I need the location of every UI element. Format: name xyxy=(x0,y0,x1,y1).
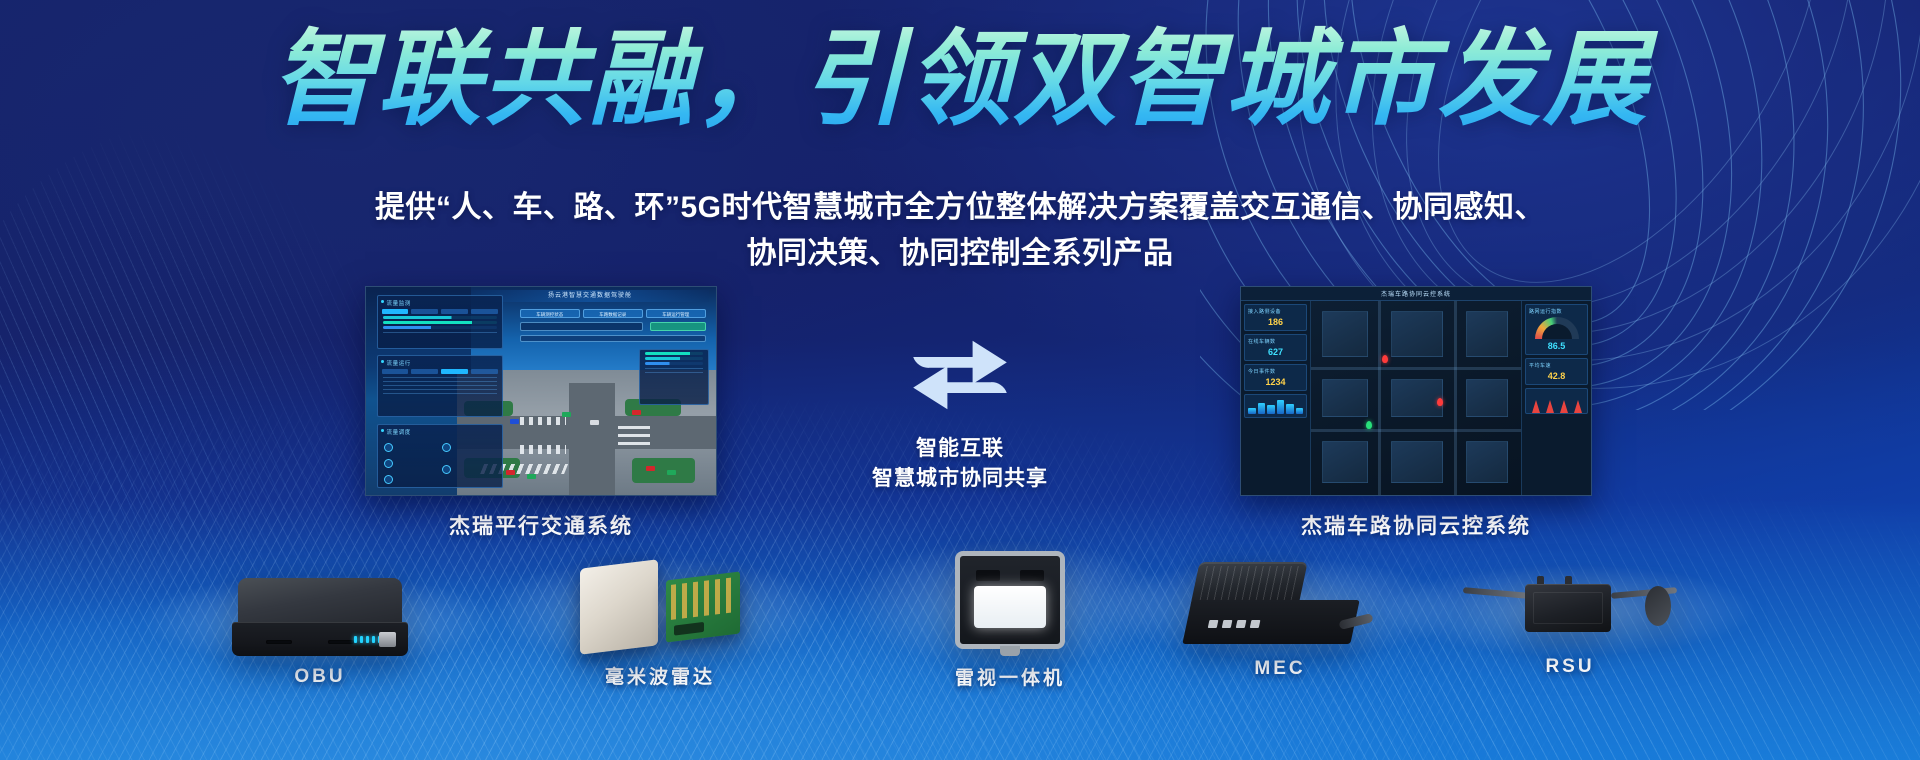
hud-bar xyxy=(383,326,497,329)
hud-status-icon xyxy=(384,475,393,484)
map-marker[interactable] xyxy=(1366,421,1372,429)
gauge-icon xyxy=(1535,317,1579,339)
rsu-device-icon xyxy=(1445,568,1695,646)
sim-vehicle xyxy=(510,419,519,424)
right-panel-caption: 杰瑞车路协同云控系统 xyxy=(1240,510,1592,540)
camera-light-panel xyxy=(974,586,1046,628)
hud-title: 流量监测 xyxy=(378,296,502,309)
map-block xyxy=(1391,441,1444,484)
right-screenshot-panel[interactable]: 杰瑞车路协同云控系统 接入路侧设备 186 在线车辆数 627 今日事件数 12… xyxy=(1240,286,1592,540)
sim-vehicle xyxy=(646,466,655,471)
map-title: 杰瑞车路协同云控系统 xyxy=(1381,289,1451,298)
hud-divider xyxy=(383,393,497,394)
hud-flow-monitor[interactable]: 流量监测 xyxy=(377,295,503,349)
mec-port xyxy=(1250,620,1261,628)
cloud-control-system-screenshot: 杰瑞车路协同云控系统 接入路侧设备 186 在线车辆数 627 今日事件数 12… xyxy=(1240,286,1592,496)
rsu-chassis xyxy=(1525,584,1611,632)
metric-title: 接入路侧设备 xyxy=(1248,308,1303,315)
hud-divider xyxy=(645,368,703,369)
exchange-arrows-icon xyxy=(905,330,1015,420)
metric-title: 今日事件数 xyxy=(1248,368,1303,375)
hud-flow-runtime[interactable]: 流量运行 xyxy=(377,355,503,417)
obu-ethernet-port xyxy=(379,632,396,647)
hud-bar xyxy=(645,357,703,360)
hud-title: 流量运行 xyxy=(378,356,502,369)
peak-bar xyxy=(1546,400,1554,413)
peaks-chart-card[interactable] xyxy=(1525,388,1588,414)
camera-lens-right xyxy=(1020,570,1044,581)
hud-bar xyxy=(645,362,703,365)
mec-port xyxy=(1236,620,1247,628)
peak-bar xyxy=(1532,400,1540,413)
obu-device-icon xyxy=(200,578,440,656)
hud-bar xyxy=(645,352,703,355)
metric-card[interactable]: 今日事件数 1234 xyxy=(1244,364,1307,391)
product-mec[interactable]: MEC xyxy=(1160,562,1400,680)
center-exchange-block: 智能互联 智慧城市协同共享 xyxy=(860,330,1060,495)
map-canvas[interactable] xyxy=(1311,301,1521,495)
map-block xyxy=(1466,379,1508,418)
hud-divider xyxy=(383,389,497,390)
hud-legend[interactable] xyxy=(378,309,502,314)
hud-status-icon xyxy=(384,459,393,468)
map-left-sidebar: 接入路侧设备 186 在线车辆数 627 今日事件数 1234 xyxy=(1241,301,1311,495)
obu-slot xyxy=(328,640,354,644)
subtitle-line-2: 协同决策、协同控制全系列产品 xyxy=(0,231,1920,277)
metric-value: 186 xyxy=(1248,317,1303,327)
sim-vehicle xyxy=(562,412,571,417)
sim-vehicle xyxy=(527,474,536,479)
sim-chip[interactable]: 车辆测控状态 xyxy=(520,309,580,318)
metric-card[interactable]: 在线车辆数 627 xyxy=(1244,334,1307,361)
sim-crosswalk xyxy=(618,424,650,445)
rsu-antenna-left xyxy=(1463,587,1529,599)
city-map-view: 杰瑞车路协同云控系统 接入路侧设备 186 在线车辆数 627 今日事件数 12… xyxy=(1241,287,1591,495)
rsu-dish-antenna xyxy=(1645,586,1671,626)
product-obu[interactable]: OBU xyxy=(200,578,440,688)
sim-search-field[interactable] xyxy=(520,322,643,331)
camera-frame xyxy=(955,551,1065,649)
metric-title: 平均车速 xyxy=(1529,362,1584,369)
hud-divider xyxy=(383,381,497,382)
hud-bar xyxy=(383,321,497,324)
parallel-traffic-system-screenshot: 扬云港智慧交通数据驾驶舱 车辆测控状态 车路数据记录 车辆运行管理 流量监测 xyxy=(365,286,717,496)
metric-value: 42.8 xyxy=(1529,371,1584,381)
chart-card[interactable] xyxy=(1244,394,1307,418)
banner-stage: 智联共融，引领双智城市发展 提供“人、车、路、环”5G时代智慧城市全方位整体解决… xyxy=(0,0,1920,760)
metric-title: 在线车辆数 xyxy=(1248,338,1303,345)
peak-bar xyxy=(1574,400,1582,413)
map-road xyxy=(1454,301,1457,495)
center-text-line-2: 智慧城市协同共享 xyxy=(860,464,1060,494)
subtitle-line-1: 提供“人、车、路、环”5G时代智慧城市全方位整体解决方案覆盖交互通信、协同感知、 xyxy=(0,185,1920,231)
map-block xyxy=(1322,311,1368,358)
camera-lens-left xyxy=(976,570,1000,581)
obu-front-face xyxy=(232,622,408,656)
map-block xyxy=(1322,379,1368,418)
map-block xyxy=(1466,311,1508,358)
banner-headline: 智联共融，引领双智城市发展 xyxy=(0,24,1920,136)
product-label: MEC xyxy=(1160,658,1400,680)
sim-vehicle xyxy=(590,420,599,425)
hud-tabs[interactable] xyxy=(378,369,502,374)
product-rsu[interactable]: RSU xyxy=(1445,568,1695,678)
sim-toggle[interactable] xyxy=(650,322,706,331)
sim-chip[interactable]: 车路数据记录 xyxy=(583,309,643,318)
mmwave-radar-icon xyxy=(545,560,775,652)
mec-chassis xyxy=(1182,600,1359,644)
hud-flow-dispatch[interactable]: 流量调度 xyxy=(377,424,503,488)
map-road xyxy=(1311,429,1521,432)
map-marker[interactable] xyxy=(1437,398,1443,406)
sim-chip[interactable]: 车辆运行管理 xyxy=(646,309,706,318)
map-block xyxy=(1466,441,1508,484)
sim-header-bar: 扬云港智慧交通数据驾驶舱 xyxy=(471,290,709,302)
sim-crosswalk xyxy=(520,417,566,425)
metric-value: 627 xyxy=(1248,347,1303,357)
sim-road-vertical xyxy=(569,383,615,495)
map-top-bar: 杰瑞车路协同云控系统 xyxy=(1241,287,1591,301)
hud-divider xyxy=(383,377,497,378)
hud-right-panel[interactable] xyxy=(639,349,709,405)
metric-card[interactable]: 平均车速 42.8 xyxy=(1525,358,1588,385)
hud-status-icon xyxy=(384,443,393,452)
bar-chart xyxy=(1248,398,1303,414)
product-radar[interactable]: 毫米波雷达 xyxy=(545,560,775,689)
obu-slot xyxy=(266,640,292,644)
center-text-line-1: 智能互联 xyxy=(860,434,1060,464)
camera-mount-arm xyxy=(1000,646,1020,656)
radar-camera-unit-icon xyxy=(900,545,1120,653)
product-camera-radar[interactable]: 雷视一体机 xyxy=(900,545,1120,690)
metric-card[interactable]: 接入路侧设备 186 xyxy=(1244,304,1307,331)
metric-value: 1234 xyxy=(1248,377,1303,387)
hud-divider xyxy=(383,332,497,333)
obu-top-shell xyxy=(238,578,402,626)
obu-led xyxy=(360,636,363,643)
hud-divider xyxy=(383,385,497,386)
mec-port xyxy=(1222,620,1233,628)
sim-vehicle xyxy=(506,470,515,475)
product-label: 毫米波雷达 xyxy=(545,662,775,689)
obu-led xyxy=(354,636,357,643)
sim-vehicle xyxy=(667,470,676,475)
radar-housing xyxy=(580,559,658,655)
mec-device-icon xyxy=(1160,562,1400,648)
gauge-card[interactable]: 路网运行指数 86.5 xyxy=(1525,304,1588,355)
map-right-sidebar: 路网运行指数 86.5 平均车速 42.8 xyxy=(1521,301,1591,495)
left-panel-caption: 杰瑞平行交通系统 xyxy=(365,510,717,540)
traffic-simulation-view: 扬云港智慧交通数据驾驶舱 车辆测控状态 车路数据记录 车辆运行管理 流量监测 xyxy=(366,287,716,495)
peak-bar xyxy=(1560,400,1568,413)
hud-status-icon xyxy=(442,465,451,474)
obu-led xyxy=(366,636,369,643)
product-label: OBU xyxy=(200,666,440,688)
hud-divider xyxy=(645,372,703,373)
obu-led xyxy=(372,636,375,643)
hud-bar xyxy=(383,316,497,319)
hud-status-icon xyxy=(442,443,451,452)
map-block xyxy=(1391,379,1444,418)
map-road xyxy=(1378,301,1381,495)
sim-vehicle xyxy=(632,410,641,415)
product-label: RSU xyxy=(1445,656,1695,678)
sim-header-title: 扬云港智慧交通数据驾驶舱 xyxy=(471,290,709,302)
radar-pcb-board xyxy=(666,571,740,642)
metric-title: 路网运行指数 xyxy=(1529,308,1584,315)
sim-crosswalk xyxy=(520,445,566,454)
sim-grass xyxy=(632,458,695,483)
left-screenshot-panel[interactable]: 扬云港智慧交通数据驾驶舱 车辆测控状态 车路数据记录 车辆运行管理 流量监测 xyxy=(365,286,717,540)
map-marker[interactable] xyxy=(1382,355,1388,363)
hud-title: 流量调度 xyxy=(378,425,502,438)
map-block xyxy=(1322,441,1368,484)
mec-port xyxy=(1208,620,1219,628)
map-block xyxy=(1391,311,1444,358)
sim-status-strip xyxy=(520,335,706,342)
metric-value: 86.5 xyxy=(1529,341,1584,351)
map-road xyxy=(1311,367,1521,370)
banner-subtitle: 提供“人、车、路、环”5G时代智慧城市全方位整体解决方案覆盖交互通信、协同感知、… xyxy=(0,185,1920,276)
